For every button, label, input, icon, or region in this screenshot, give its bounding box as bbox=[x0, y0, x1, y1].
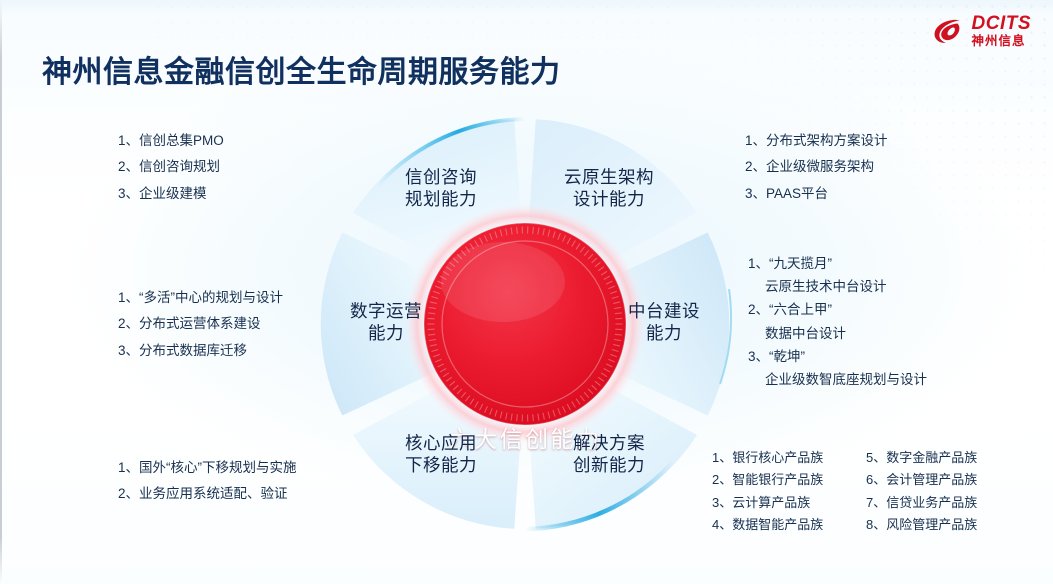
list-item-index: 3、 bbox=[712, 492, 732, 514]
list-item: 3、云计算产品族 bbox=[712, 492, 823, 514]
logo-text-cn: 神州信息 bbox=[972, 35, 1032, 48]
list-item: 2、智能银行产品族 bbox=[712, 469, 823, 491]
page-title: 神州信息金融信创全生命周期服务能力 bbox=[42, 47, 561, 91]
list-item: 3、分布式数据库迁移 bbox=[118, 338, 283, 364]
list-item: 1、银行核心产品族 bbox=[712, 447, 823, 469]
list-item-index: 3、 bbox=[748, 345, 769, 368]
list-item-text: 数字金融产品族 bbox=[886, 450, 977, 465]
list-item-text: 分布式架构方案设计 bbox=[766, 133, 888, 148]
text-block-bottom-right-col2: 5、数字金融产品族6、会计管理产品族7、信贷业务产品族8、风险管理产品族 bbox=[866, 447, 977, 536]
list-item-index: 4、 bbox=[712, 514, 732, 536]
dcits-swoosh-icon bbox=[932, 16, 966, 46]
core-highlight bbox=[441, 242, 565, 322]
text-block-bottom-right-col1: 1、银行核心产品族2、智能银行产品族3、云计算产品族4、数据智能产品族 bbox=[712, 447, 823, 536]
list-item-index: 2、 bbox=[712, 469, 732, 491]
brand-logo: DCITS 神州信息 bbox=[932, 14, 1032, 48]
list-item: 1、“九天揽月” bbox=[748, 252, 927, 275]
list-item: 4、数据智能产品族 bbox=[712, 514, 823, 536]
list-item-index: 2、 bbox=[118, 154, 139, 180]
list-item-index: 1、 bbox=[118, 128, 139, 154]
list-item-text: 企业级微服务架构 bbox=[766, 159, 874, 174]
list-item-index: 8、 bbox=[866, 514, 886, 536]
list-item-text: 风险管理产品族 bbox=[886, 517, 977, 532]
list-item: 2、分布式运营体系建设 bbox=[118, 311, 283, 337]
list-item-text: 数据智能产品族 bbox=[732, 517, 823, 532]
list-item-text: 业务应用系统适配、验证 bbox=[139, 486, 288, 501]
list-item-index: 3、 bbox=[118, 338, 139, 364]
list-item-text: 信创总集PMO bbox=[139, 133, 224, 148]
list-item-index: 1、 bbox=[712, 447, 732, 469]
list-item: 1、分布式架构方案设计 bbox=[745, 128, 888, 154]
list-item: 6、会计管理产品族 bbox=[866, 469, 977, 491]
list-item-text: 企业级建模 bbox=[139, 186, 207, 201]
list-item-text: 分布式数据库迁移 bbox=[139, 343, 247, 358]
list-item-text: 银行核心产品族 bbox=[732, 450, 823, 465]
wheel-svg bbox=[315, 114, 735, 534]
list-item-text: 智能银行产品族 bbox=[732, 472, 823, 487]
list-item-index: 2、 bbox=[748, 298, 769, 321]
list-item-index: 7、 bbox=[866, 492, 886, 514]
list-item-text: 会计管理产品族 bbox=[886, 472, 977, 487]
left-edge-rule bbox=[0, 0, 2, 584]
list-item: 7、信贷业务产品族 bbox=[866, 492, 977, 514]
list-item-subtext: 数据中台设计 bbox=[748, 322, 927, 345]
list-item-index: 3、 bbox=[745, 181, 766, 207]
list-item-text: 云计算产品族 bbox=[732, 495, 810, 510]
list-item-text: 分布式运营体系建设 bbox=[139, 316, 261, 331]
list-item-index: 6、 bbox=[866, 469, 886, 491]
slide-canvas: DCITS 神州信息 神州信息金融信创全生命周期服务能力 bbox=[0, 0, 1053, 584]
list-item-index: 1、 bbox=[118, 455, 139, 481]
list-item-text: “乾坤” bbox=[769, 349, 805, 364]
text-block-top-right: 1、分布式架构方案设计2、企业级微服务架构3、PAAS平台 bbox=[745, 128, 888, 207]
list-item: 3、企业级建模 bbox=[118, 181, 224, 207]
list-item: 5、数字金融产品族 bbox=[866, 447, 977, 469]
list-item: 2、企业级微服务架构 bbox=[745, 154, 888, 180]
list-item-text: “多活”中心的规划与设计 bbox=[139, 290, 283, 305]
list-item-text: PAAS平台 bbox=[766, 186, 828, 201]
list-item-index: 1、 bbox=[748, 252, 769, 275]
list-item-index: 1、 bbox=[118, 285, 139, 311]
list-item-index: 2、 bbox=[118, 481, 139, 507]
list-item: 1、“多活”中心的规划与设计 bbox=[118, 285, 283, 311]
list-item-subtext: 企业级数智底座规划与设计 bbox=[748, 368, 927, 391]
list-item-text: “九天揽月” bbox=[769, 256, 832, 271]
logo-text-en: DCITS bbox=[972, 14, 1032, 33]
list-item: 2、信创咨询规划 bbox=[118, 154, 224, 180]
list-item: 8、风险管理产品族 bbox=[866, 514, 977, 536]
list-item-index: 2、 bbox=[118, 311, 139, 337]
list-item: 2、业务应用系统适配、验证 bbox=[118, 481, 297, 507]
list-item: 3、“乾坤” bbox=[748, 345, 927, 368]
list-item-index: 2、 bbox=[745, 154, 766, 180]
list-item: 1、信创总集PMO bbox=[118, 128, 224, 154]
list-item: 2、“六合上甲” bbox=[748, 298, 927, 321]
list-item-subtext: 云原生技术中台设计 bbox=[748, 275, 927, 298]
list-item-text: 国外“核心”下移规划与实施 bbox=[139, 460, 297, 475]
six-capability-wheel: 六大信创能力 信创咨询 规划能力 云原生架构 设计能力 中台建设 能力 解决方案… bbox=[315, 114, 735, 534]
list-item-text: 信贷业务产品族 bbox=[886, 495, 977, 510]
text-block-top-left: 1、信创总集PMO2、信创咨询规划3、企业级建模 bbox=[118, 128, 224, 207]
text-block-middle-left: 1、“多活”中心的规划与设计2、分布式运营体系建设3、分布式数据库迁移 bbox=[118, 285, 283, 364]
text-block-middle-right: 1、“九天揽月”云原生技术中台设计2、“六合上甲”数据中台设计3、“乾坤”企业级… bbox=[748, 252, 927, 391]
list-item: 1、国外“核心”下移规划与实施 bbox=[118, 455, 297, 481]
list-item-index: 1、 bbox=[745, 128, 766, 154]
list-item-text: “六合上甲” bbox=[769, 302, 832, 317]
list-item-index: 3、 bbox=[118, 181, 139, 207]
list-item: 3、PAAS平台 bbox=[745, 181, 888, 207]
top-gradient-wash bbox=[0, 0, 1053, 16]
text-block-bottom-left: 1、国外“核心”下移规划与实施2、业务应用系统适配、验证 bbox=[118, 455, 297, 508]
list-item-index: 5、 bbox=[866, 447, 886, 469]
list-item-text: 信创咨询规划 bbox=[139, 159, 220, 174]
